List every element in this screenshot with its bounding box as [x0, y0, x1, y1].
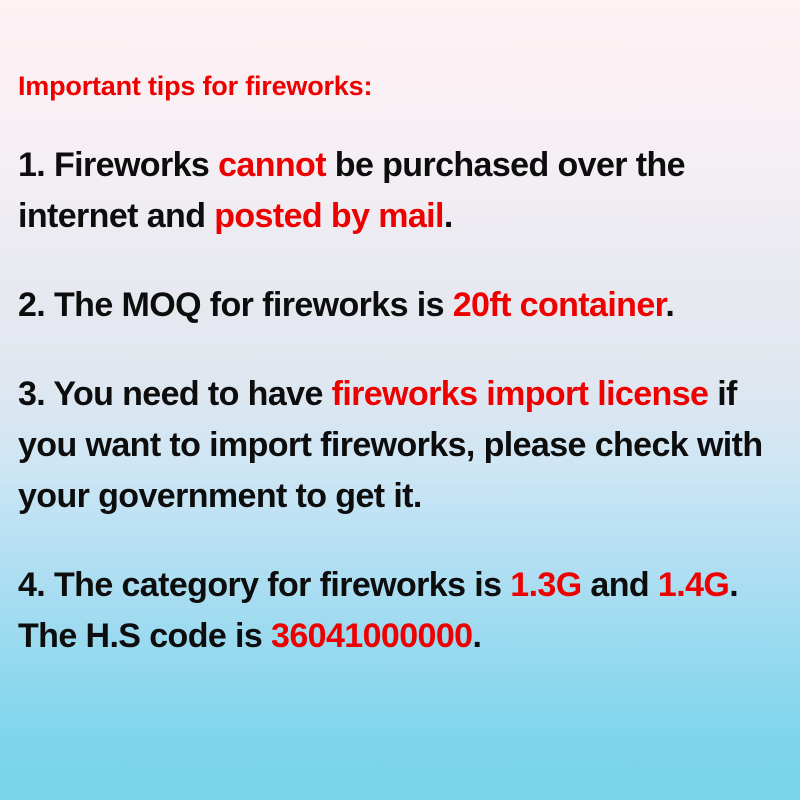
poster-content: Important tips for fireworks: 1. Firewor…	[18, 0, 782, 662]
tip-1-highlight-posted-by-mail: posted by mail	[214, 197, 444, 235]
tip-4-highlight-hs-code: 36041000000	[271, 617, 472, 655]
tip-item-3: 3. You need to have fireworks import lic…	[18, 331, 782, 522]
fireworks-tips-poster: Important tips for fireworks: 1. Firewor…	[0, 0, 800, 800]
tip-1-highlight-cannot: cannot	[218, 146, 326, 184]
tip-4-highlight-category-14g: 1.4G	[658, 566, 729, 604]
tip-3-highlight-import-license: fireworks import license	[332, 375, 709, 413]
tip-3-text-part-1: 3. You need to have	[18, 375, 332, 413]
tip-2-period: .	[665, 286, 674, 324]
page-title: Important tips for fireworks:	[18, 0, 782, 102]
tip-2-highlight-moq: 20ft container	[453, 286, 666, 324]
tip-1-text-part-1: 1. Fireworks	[18, 146, 218, 184]
tip-4-highlight-category-13g: 1.3G	[510, 566, 581, 604]
tip-item-2: 2. The MOQ for fireworks is 20ft contain…	[18, 242, 782, 331]
tip-item-1: 1. Fireworks cannot be purchased over th…	[18, 102, 782, 242]
tip-item-4: 4. The category for fireworks is 1.3G an…	[18, 522, 782, 662]
tip-4-text-and: and	[582, 566, 658, 604]
tip-4-text-part-1: 4. The category for fireworks is	[18, 566, 510, 604]
tip-1-period: .	[444, 197, 453, 235]
tip-4-period: .	[472, 617, 481, 655]
tip-2-text-part-1: 2. The MOQ for fireworks is	[18, 286, 453, 324]
